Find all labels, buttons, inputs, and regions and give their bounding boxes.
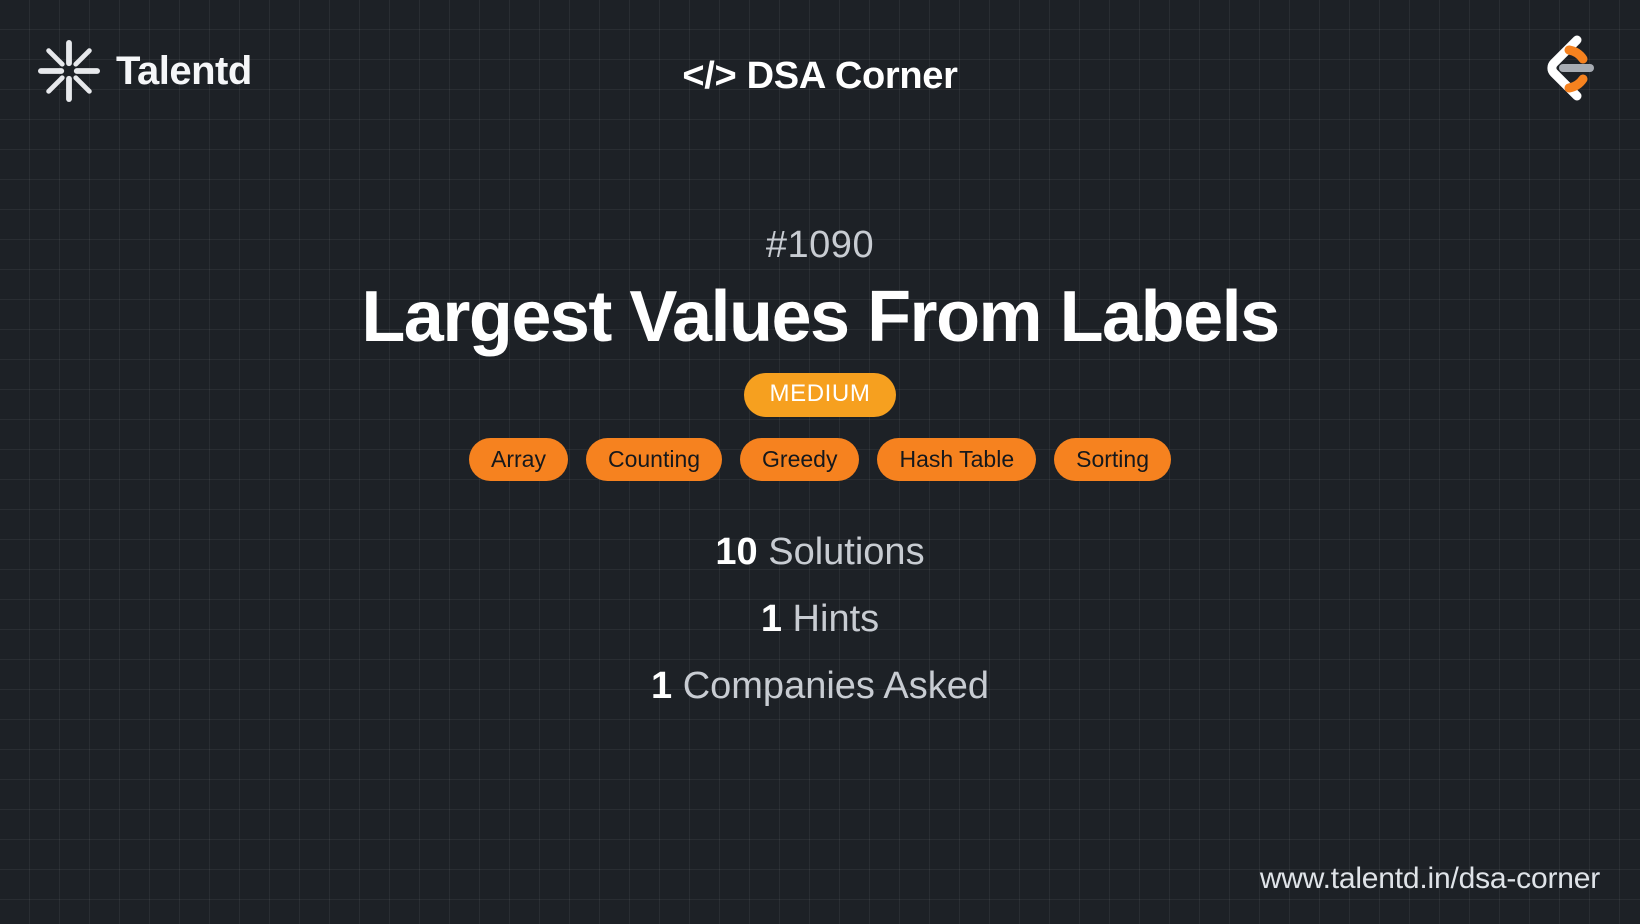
stat-value: 10 (715, 531, 757, 573)
stat-row: 1 Hints (0, 586, 1640, 653)
page-title: </> DSA Corner (0, 55, 1640, 98)
stat-row: 1 Companies Asked (0, 653, 1640, 720)
difficulty-row: MEDIUM (0, 373, 1640, 416)
stats-list: 10 Solutions1 Hints1 Companies Asked (0, 519, 1640, 720)
tag-pill[interactable]: Sorting (1054, 438, 1171, 481)
stat-row: 10 Solutions (0, 519, 1640, 586)
problem-title: Largest Values From Labels (0, 277, 1640, 358)
stat-value: 1 (651, 665, 672, 707)
page-header: Talentd </> DSA Corner (0, 0, 1640, 155)
stat-label: Solutions (758, 531, 925, 573)
problem-card: #1090 Largest Values From Labels MEDIUM … (0, 225, 1640, 720)
status-badge-difficulty: MEDIUM (744, 373, 897, 416)
tag-pill[interactable]: Counting (586, 438, 722, 481)
problem-number: #1090 (0, 225, 1640, 267)
stat-value: 1 (761, 598, 782, 640)
tag-pill[interactable]: Hash Table (877, 438, 1036, 481)
tag-pill[interactable]: Array (469, 438, 568, 481)
tag-pill[interactable]: Greedy (740, 438, 859, 481)
footer-url: www.talentd.in/dsa-corner (1260, 862, 1600, 896)
stat-label: Companies Asked (672, 665, 989, 707)
stat-label: Hints (782, 598, 879, 640)
tag-list: ArrayCountingGreedyHash TableSorting (0, 438, 1640, 481)
